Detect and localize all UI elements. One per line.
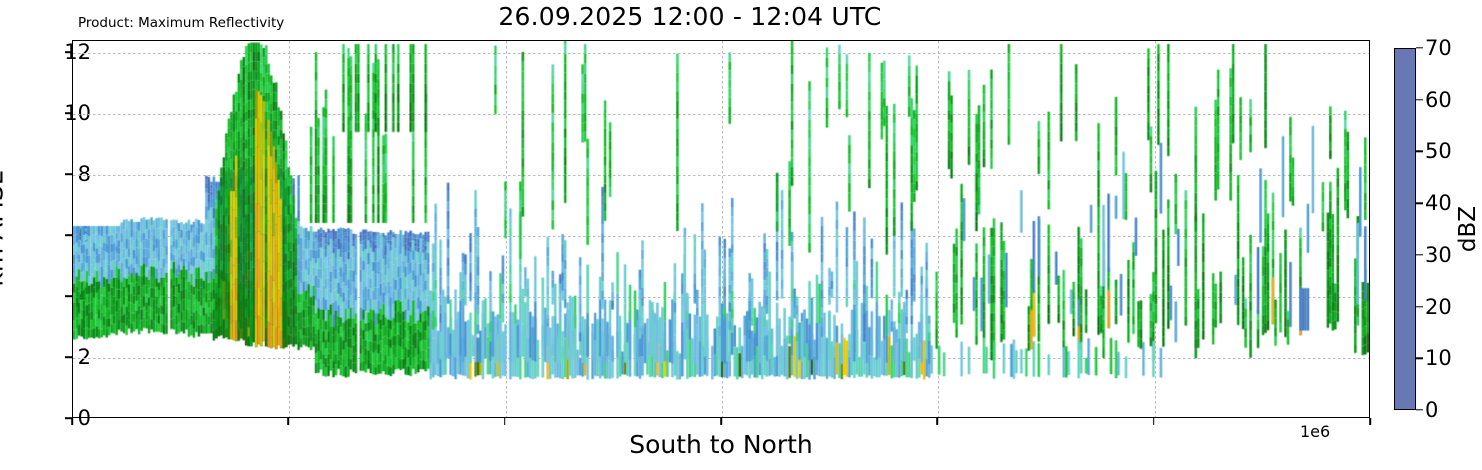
plot-area [72,40,1370,418]
x-axis-tick-mark [720,418,722,425]
y-axis-tick-mark [65,112,72,114]
x-axis-tick-mark [1369,418,1371,425]
y-axis-tick-mark [65,51,72,53]
reflectivity-heatmap [73,41,1369,417]
colorbar-tick-label: 0 [1425,398,1438,422]
y-axis-tick-mark [65,234,72,236]
colorbar-tick-mark [1416,202,1423,203]
colorbar-tick-label: 70 [1425,36,1452,60]
colorbar-label: dBZ [1455,206,1481,252]
y-axis-tick-mark [65,173,72,175]
colorbar-tick-label: 20 [1425,295,1452,319]
colorbar-tick-mark [1416,99,1423,100]
x-axis-offset-text: 1e6 [1300,422,1330,441]
colorbar-tick-label: 10 [1425,346,1452,370]
x-axis-tick-mark [71,418,73,425]
colorbar-tick-mark [1416,47,1423,48]
colorbar-tick-label: 50 [1425,139,1452,163]
x-axis-label: South to North [72,430,1370,459]
x-axis-tick-mark [504,418,506,425]
x-axis-tick-mark [1153,418,1155,425]
y-axis-tick-mark [65,356,72,358]
colorbar-tick-mark [1416,358,1423,359]
y-axis-label: km AMSL [0,171,9,286]
colorbar [1394,48,1416,410]
colorbar-tick-label: 40 [1425,191,1452,215]
colorbar-tick-mark [1416,254,1423,255]
colorbar-tick-mark [1416,409,1423,410]
colorbar-tick-label: 30 [1425,243,1452,267]
y-axis-tick-mark [65,295,72,297]
product-label: Product: Maximum Reflectivity [78,15,284,31]
colorbar-tick-mark [1416,151,1423,152]
colorbar-tick-label: 60 [1425,88,1452,112]
x-axis-tick-mark [937,418,939,425]
colorbar-tick-mark [1416,306,1423,307]
colorbar-gradient [1394,48,1416,410]
x-axis-tick-mark [288,418,290,425]
